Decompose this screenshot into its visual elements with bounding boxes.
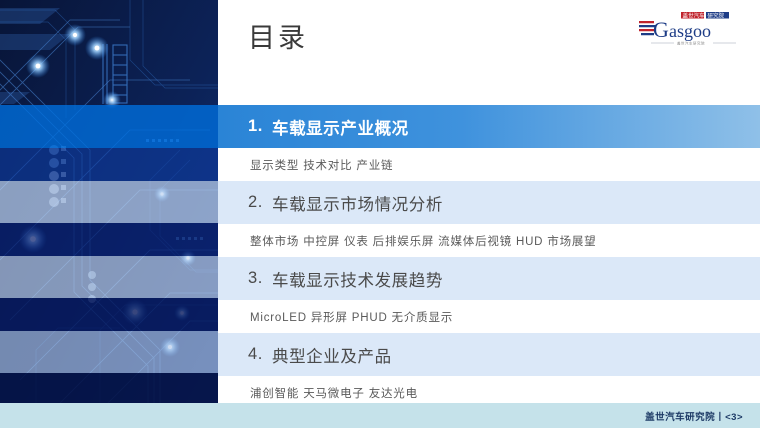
table-of-contents: 1. 车载显示产业概况 显示类型 技术对比 产业链 2. 车载显示市场情况分析 …	[218, 105, 760, 409]
svg-text:G: G	[653, 17, 669, 42]
panel-band-1	[0, 105, 218, 148]
toc-row-4-title: 典型企业及产品	[272, 343, 392, 367]
toc-sub-2-text: 整体市场 中控屏 仪表 后排娱乐屏 流媒体后视镜 HUD 市场展望	[250, 233, 596, 249]
toc-sub-1[interactable]: 显示类型 技术对比 产业链	[218, 148, 760, 181]
panel-band-5	[0, 256, 218, 298]
svg-text:asgoo: asgoo	[669, 21, 711, 41]
panel-band-6	[0, 298, 218, 331]
toc-sub-1-text: 显示类型 技术对比 产业链	[250, 157, 393, 173]
toc-row-4[interactable]: 4. 典型企业及产品	[218, 333, 760, 376]
logo-chinese-banner: 盖世汽车 研究院	[681, 12, 729, 20]
toc-row-3-title: 车载显示技术发展趋势	[272, 267, 443, 291]
panel-band-8	[0, 373, 218, 403]
panel-band-3	[0, 181, 218, 223]
toc-row-4-number: 4.	[248, 345, 263, 364]
footer-text: 盖世汽车研究院丨<3>	[645, 409, 743, 423]
toc-row-3[interactable]: 3. 车载显示技术发展趋势	[218, 257, 760, 300]
panel-band-7	[0, 331, 218, 373]
toc-row-2-title: 车载显示市场情况分析	[272, 191, 443, 215]
toc-sub-3[interactable]: MicroLED 异形屏 PHUD 无介质显示	[218, 300, 760, 333]
panel-band-2	[0, 148, 218, 181]
toc-sub-4-text: 浦创智能 天马微电子 友达光电	[250, 385, 418, 401]
toc-row-3-number: 3.	[248, 269, 263, 288]
toc-row-2[interactable]: 2. 车载显示市场情况分析	[218, 181, 760, 224]
svg-text:盖世汽车研究院: 盖世汽车研究院	[677, 41, 705, 46]
toc-row-1[interactable]: 1. 车载显示产业概况	[218, 105, 760, 148]
panel-band-4	[0, 223, 218, 256]
gasgoo-logo: G asgoo 盖世汽车 研究院 盖世汽车研究院	[638, 8, 742, 50]
toc-row-1-title: 车载显示产业概况	[272, 115, 409, 139]
page-title: 目录	[248, 18, 308, 58]
slide-canvas: 目录 G asgoo 盖世汽车 研究院 盖世汽车研究院 1. 车载	[0, 0, 760, 428]
tech-decoration-panel	[0, 0, 218, 403]
toc-row-1-number: 1.	[248, 117, 263, 136]
toc-sub-2[interactable]: 整体市场 中控屏 仪表 后排娱乐屏 流媒体后视镜 HUD 市场展望	[218, 224, 760, 257]
toc-row-2-number: 2.	[248, 193, 263, 212]
toc-sub-3-text: MicroLED 异形屏 PHUD 无介质显示	[250, 309, 453, 325]
